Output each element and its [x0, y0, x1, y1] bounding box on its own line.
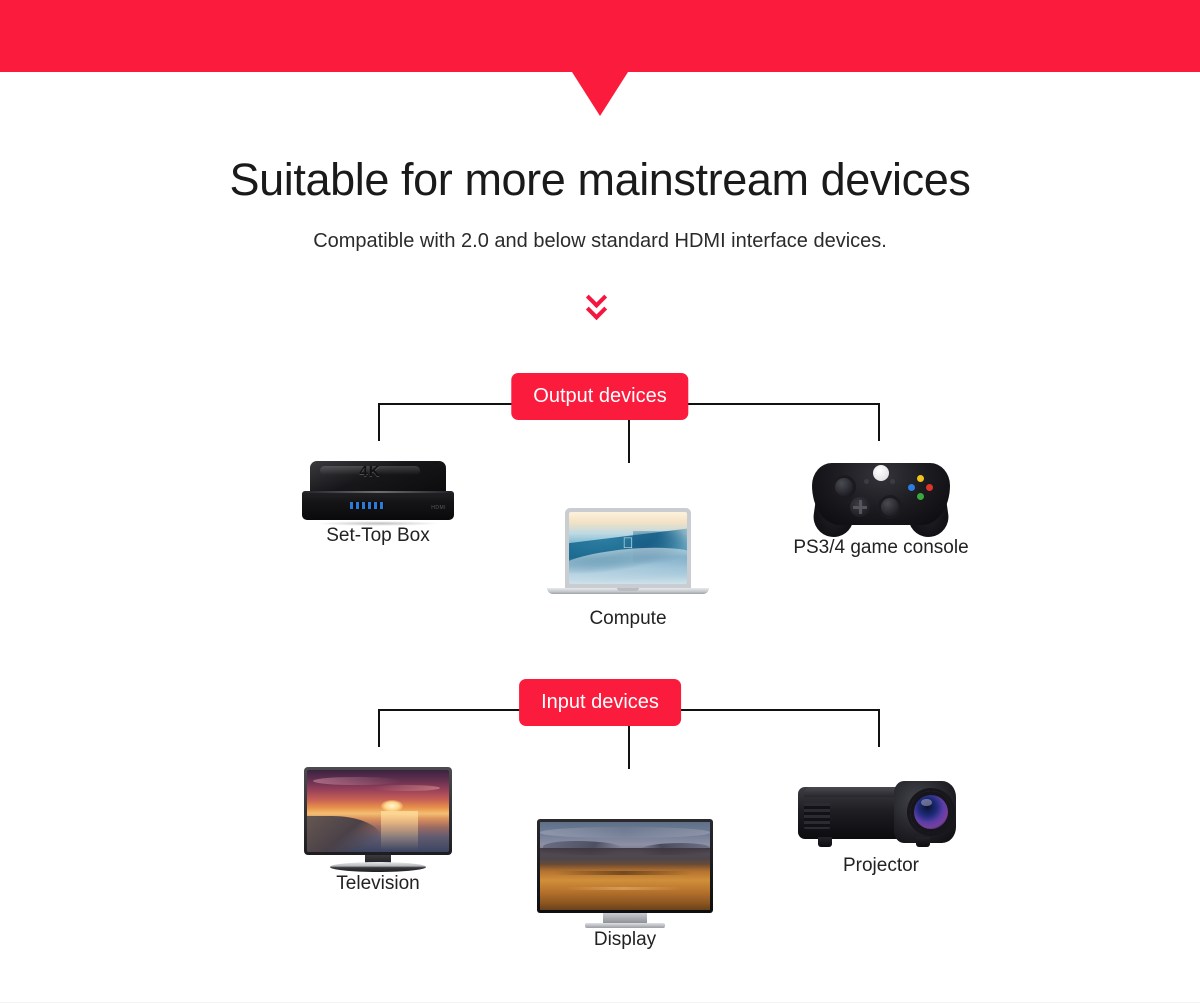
controller-button-a	[917, 493, 924, 500]
tv-cloud	[372, 785, 440, 792]
monitor-ground-streak	[564, 887, 683, 890]
device-caption: Display	[510, 929, 740, 952]
heading-block: Suitable for more mainstream devices Com…	[0, 155, 1200, 253]
laptop-wallpaper: 	[569, 512, 687, 584]
device-caption: Compute	[513, 608, 743, 631]
device-tile-computer:  Compute	[513, 508, 743, 631]
tv-cloud	[313, 777, 401, 785]
device-caption: Television	[263, 873, 493, 896]
group-badge-output: Output devices	[511, 373, 688, 420]
television-icon	[304, 767, 452, 873]
device-caption: Projector	[766, 855, 996, 878]
device-tile-game-console: PS3/4 game console	[766, 455, 996, 560]
monitor-neck	[603, 913, 647, 923]
monitor-cloud-band	[540, 827, 710, 838]
game-controller-icon	[812, 455, 950, 537]
tv-screen-image	[307, 770, 449, 852]
laptop-icon: 	[547, 508, 709, 608]
apple-logo-icon: 	[622, 537, 634, 551]
set-top-box-seam	[302, 491, 454, 493]
projector-vents	[804, 803, 830, 829]
set-top-box-led-display	[350, 502, 384, 509]
group-badge-input: Input devices	[519, 679, 681, 726]
connector-stem	[628, 420, 630, 463]
device-tile-set-top-box: 4K HDMI Set-Top Box	[263, 455, 493, 548]
top-banner	[0, 0, 1200, 72]
controller-left-stick	[832, 475, 856, 499]
projector-lens	[910, 791, 952, 833]
device-tile-projector: Projector	[766, 779, 996, 878]
tv-shoreline	[307, 816, 381, 852]
controller-right-stick	[878, 495, 902, 519]
controller-button-x	[908, 484, 915, 491]
projector-foot	[916, 837, 930, 847]
laptop-screen: 	[565, 508, 691, 588]
projector-foot	[818, 837, 832, 847]
page-title: Suitable for more mainstream devices	[0, 155, 1200, 205]
set-top-box-hdmi-label: HDMI	[431, 505, 446, 511]
controller-button-y	[917, 475, 924, 482]
product-feature-page: Suitable for more mainstream devices Com…	[0, 0, 1200, 1003]
double-chevron-down-icon	[580, 288, 620, 324]
device-tile-display: Display	[510, 819, 740, 952]
controller-view-button	[864, 479, 869, 484]
monitor-ridge	[540, 848, 710, 860]
controller-button-b	[926, 484, 933, 491]
controller-guide-button	[873, 465, 889, 481]
tv-sun-reflection	[381, 811, 418, 850]
set-top-box-shadow	[316, 521, 440, 526]
device-caption: Set-Top Box	[263, 525, 493, 548]
monitor-screen-image	[540, 822, 710, 910]
connector-stem	[628, 726, 630, 769]
controller-menu-button	[890, 479, 895, 484]
device-tile-television: Television	[263, 767, 493, 896]
monitor-panel	[537, 819, 713, 913]
controller-dpad	[850, 497, 870, 517]
device-caption: PS3/4 game console	[766, 537, 996, 560]
monitor-foot	[585, 923, 665, 928]
controller-face-buttons	[908, 475, 934, 501]
set-top-box-icon: 4K HDMI	[302, 455, 454, 525]
monitor-icon	[537, 819, 713, 929]
tv-stand	[330, 862, 426, 872]
set-top-box-4k-label: 4K	[302, 463, 438, 480]
projector-icon	[798, 779, 964, 855]
page-subtitle: Compatible with 2.0 and below standard H…	[0, 229, 1200, 253]
tv-panel	[304, 767, 452, 855]
monitor-ground-streak	[554, 871, 693, 875]
laptop-notch	[617, 588, 639, 591]
chevron-down-icon	[586, 299, 607, 320]
banner-notch-triangle	[572, 72, 628, 116]
